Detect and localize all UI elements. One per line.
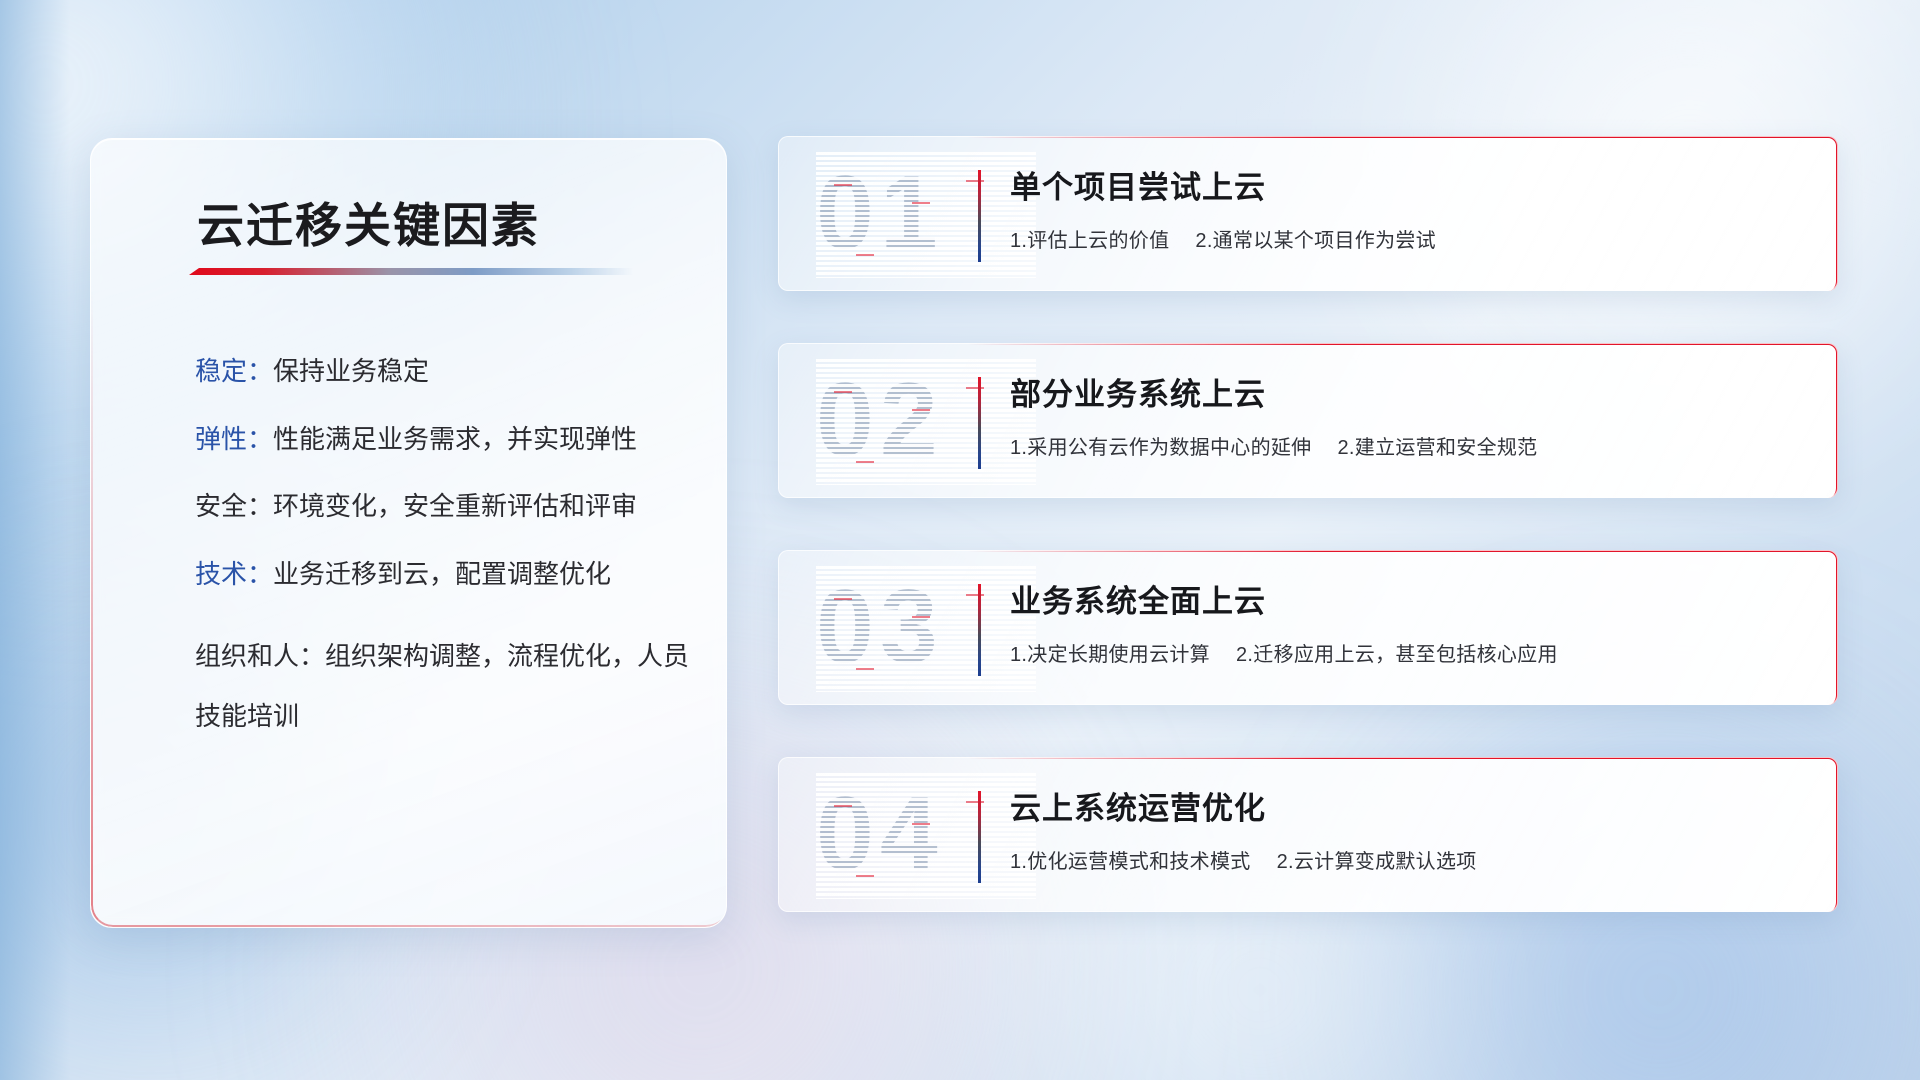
step-number-accent-tick: [834, 391, 852, 393]
factor-row: 弹性：性能满足业务需求，并实现弹性: [195, 425, 695, 454]
step-number-accent-tick: [966, 387, 984, 389]
step-card-title: 云上系统运营优化: [1010, 783, 1266, 828]
card-divider-bar: [978, 791, 981, 883]
step-card[interactable]: 01单个项目尝试上云1.评估上云的价值2.通常以某个项目作为尝试: [778, 136, 1838, 291]
step-number-accent-tick: [966, 801, 984, 803]
step-card-list: 01单个项目尝试上云1.评估上云的价值2.通常以某个项目作为尝试02部分业务系统…: [778, 136, 1838, 964]
step-number-graphic: 03: [816, 564, 1036, 692]
step-card-point: 2.迁移应用上云，甚至包括核心应用: [1236, 644, 1558, 666]
step-number-accent-tick: [856, 461, 874, 463]
factor-label: 技术：: [195, 560, 273, 589]
step-card-point: 2.云计算变成默认选项: [1277, 851, 1477, 873]
step-number-accent-tick: [856, 668, 874, 670]
step-number-accent-tick: [966, 594, 984, 596]
step-card-point: 1.评估上云的价值: [1010, 230, 1169, 252]
step-card-point: 1.决定长期使用云计算: [1010, 644, 1210, 666]
factor-label: 弹性：: [195, 425, 273, 454]
step-number-scanlines: [816, 771, 1036, 899]
factor-row: 稳定：保持业务稳定: [195, 357, 695, 386]
step-number-scanlines: [816, 150, 1036, 278]
step-number-scanlines: [816, 357, 1036, 485]
factor-label: 稳定：: [195, 357, 273, 386]
step-card-title: 单个项目尝试上云: [1010, 162, 1266, 207]
factor-list: 稳定：保持业务稳定弹性：性能满足业务需求，并实现弹性安全：环境变化，安全重新评估…: [195, 357, 695, 786]
key-factors-panel: 云迁移关键因素 稳定：保持业务稳定弹性：性能满足业务需求，并实现弹性安全：环境变…: [90, 138, 727, 928]
step-card-point: 2.通常以某个项目作为尝试: [1195, 230, 1436, 252]
step-card[interactable]: 03业务系统全面上云1.决定长期使用云计算2.迁移应用上云，甚至包括核心应用: [778, 550, 1838, 705]
step-card-title: 部分业务系统上云: [1010, 369, 1266, 414]
step-number-accent-tick: [856, 254, 874, 256]
step-card-subtitle: 1.决定长期使用云计算2.迁移应用上云，甚至包括核心应用: [1010, 638, 1558, 667]
step-number-graphic: 02: [816, 357, 1036, 485]
card-divider-bar: [978, 170, 981, 262]
factor-text: 环境变化，安全重新评估和评审: [273, 492, 637, 521]
factor-label: 安全：: [195, 492, 273, 521]
step-card-subtitle: 1.优化运营模式和技术模式2.云计算变成默认选项: [1010, 845, 1477, 874]
factor-row: 组织和人：组织架构调整，流程优化，人员技能培训: [195, 627, 695, 747]
step-number-accent-tick: [834, 184, 852, 186]
card-divider-bar: [978, 377, 981, 469]
step-number-accent-tick: [966, 180, 984, 182]
step-number-accent-tick: [834, 805, 852, 807]
step-number-accent-tick: [912, 823, 930, 825]
step-number-accent-tick: [912, 616, 930, 618]
step-card[interactable]: 02部分业务系统上云1.采用公有云作为数据中心的延伸2.建立运营和安全规范: [778, 343, 1838, 498]
page-title: 云迁移关键因素: [197, 187, 540, 256]
factor-text: 性能满足业务需求，并实现弹性: [273, 425, 637, 454]
factor-label: 组织和人：: [195, 641, 325, 671]
step-number-graphic: 01: [816, 150, 1036, 278]
background-left-edge: [0, 0, 70, 1080]
slide-root: 云迁移关键因素 稳定：保持业务稳定弹性：性能满足业务需求，并实现弹性安全：环境变…: [0, 0, 1920, 1080]
step-number-scanlines: [816, 564, 1036, 692]
step-number-accent-tick: [912, 202, 930, 204]
factor-row: 安全：环境变化，安全重新评估和评审: [195, 492, 695, 521]
step-card[interactable]: 04云上系统运营优化1.优化运营模式和技术模式2.云计算变成默认选项: [778, 757, 1838, 912]
step-number-accent-tick: [834, 598, 852, 600]
step-card-point: 1.采用公有云作为数据中心的延伸: [1010, 437, 1311, 459]
title-underline-rule: [189, 268, 633, 275]
step-number-graphic: 04: [816, 771, 1036, 899]
step-card-title: 业务系统全面上云: [1010, 576, 1266, 621]
step-card-point: 1.优化运营模式和技术模式: [1010, 851, 1251, 873]
factor-text: 保持业务稳定: [273, 357, 429, 386]
step-card-subtitle: 1.评估上云的价值2.通常以某个项目作为尝试: [1010, 224, 1436, 253]
step-number-accent-tick: [856, 875, 874, 877]
step-number-accent-tick: [912, 409, 930, 411]
factor-row: 技术：业务迁移到云，配置调整优化: [195, 560, 695, 589]
card-divider-bar: [978, 584, 981, 676]
step-card-point: 2.建立运营和安全规范: [1337, 437, 1537, 459]
factor-text: 业务迁移到云，配置调整优化: [273, 560, 611, 589]
step-card-subtitle: 1.采用公有云作为数据中心的延伸2.建立运营和安全规范: [1010, 431, 1537, 460]
